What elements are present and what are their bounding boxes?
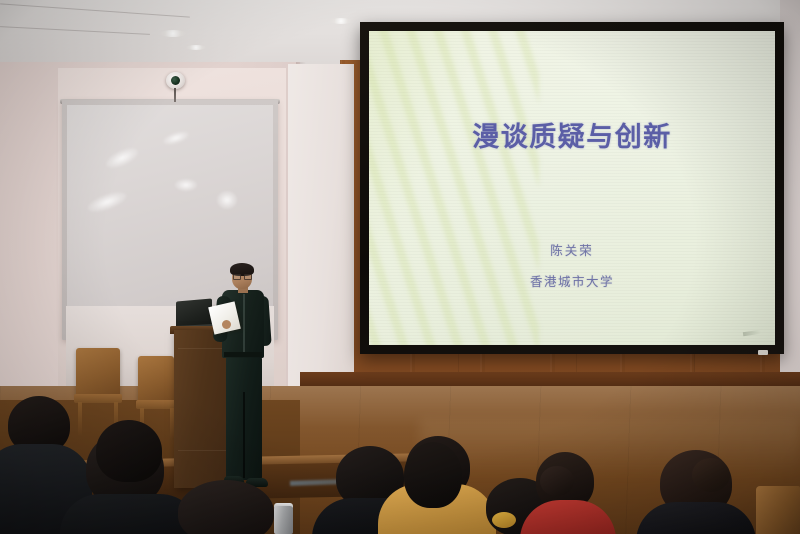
floor-reflection xyxy=(420,420,800,480)
projection-screen-surface: 漫谈质疑与创新 陈关荣 香港城市大学 xyxy=(369,31,775,345)
wooden-seat-back xyxy=(756,486,800,534)
baseboard xyxy=(300,372,800,386)
presenter-hand xyxy=(222,320,231,329)
presentation-slide: 漫谈质疑与创新 陈关荣 香港城市大学 xyxy=(369,31,775,345)
ceiling-light xyxy=(160,30,186,37)
whiteboard-glare xyxy=(175,179,197,191)
wall-pillar xyxy=(288,64,354,394)
presenter-leg-seam xyxy=(243,392,245,478)
security-camera-icon xyxy=(166,72,185,89)
slide-affiliation: 香港城市大学 xyxy=(530,271,614,290)
whiteboard-glare xyxy=(162,129,190,147)
presenter-waist xyxy=(224,352,262,357)
whiteboard-glare xyxy=(217,191,237,209)
ceiling-light xyxy=(330,18,352,24)
presenter-jacket-zipper xyxy=(243,294,245,352)
slide-title: 漫谈质疑与创新 xyxy=(472,115,672,154)
thermos-flask xyxy=(274,506,293,534)
ceiling-light xyxy=(186,45,206,50)
slide-author: 陈关荣 xyxy=(550,240,594,259)
whiteboard-glare xyxy=(104,144,141,171)
screen-pull-tab xyxy=(758,350,768,355)
projection-screen-frame: 漫谈质疑与创新 陈关荣 香港城市大学 xyxy=(360,22,784,354)
camera-mount-stem xyxy=(174,88,176,102)
lecture-hall-photo: 漫谈质疑与创新 陈关荣 香港城市大学 xyxy=(0,0,800,534)
camera-lens xyxy=(171,76,180,85)
glasses-icon xyxy=(233,274,251,278)
whiteboard-glare xyxy=(86,189,128,216)
